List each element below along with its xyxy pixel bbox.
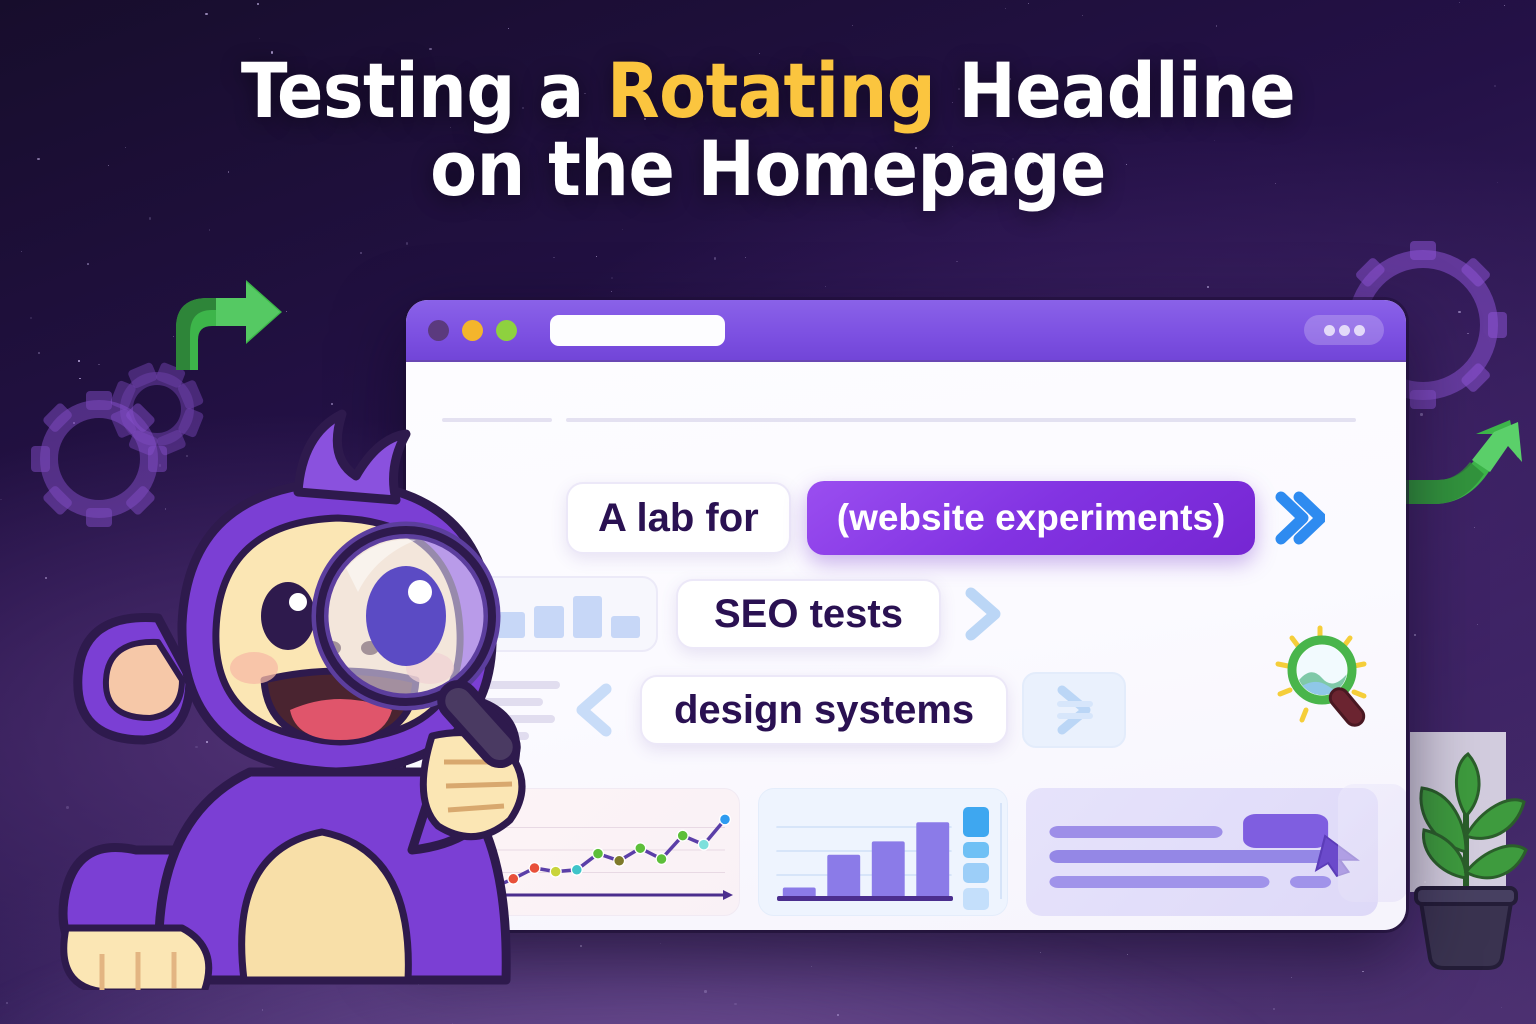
widget-tail-placeholder xyxy=(1338,784,1406,902)
menu-dot-icon xyxy=(1339,325,1350,336)
poster-canvas: Testing a Rotating Headline on the Homep… xyxy=(0,0,1536,1024)
browser-chrome xyxy=(406,300,1406,362)
menu-dot-icon xyxy=(1354,325,1365,336)
bar-chart-widget[interactable] xyxy=(758,788,1008,916)
headline-part-after: Headline xyxy=(935,46,1295,135)
chevron-right-icon xyxy=(1046,684,1102,736)
rotating-word-pill[interactable]: design systems xyxy=(640,675,1008,745)
headline-line-2: on the Homepage xyxy=(430,124,1106,213)
search-icon xyxy=(1272,624,1392,736)
page-title: Testing a Rotating Headline on the Homep… xyxy=(0,52,1536,209)
traffic-light-close[interactable] xyxy=(428,320,449,341)
growth-arrow-icon xyxy=(1398,418,1526,540)
card-skeleton xyxy=(1026,788,1378,916)
headline-line-1: Testing a Rotating Headline xyxy=(241,46,1295,135)
plant-icon xyxy=(1402,732,1530,972)
headline-part-before: Testing a xyxy=(241,46,607,135)
traffic-light-minimize[interactable] xyxy=(462,320,483,341)
chevron-right-button[interactable] xyxy=(1022,672,1126,748)
rotating-word-pill[interactable]: SEO tests xyxy=(676,579,941,649)
headline-accent-word: Rotating xyxy=(607,46,935,135)
curved-arrow-icon xyxy=(168,276,286,372)
url-bar[interactable] xyxy=(550,315,725,346)
menu-dot-icon xyxy=(1324,325,1335,336)
skeleton-line xyxy=(566,418,1356,422)
chevron-right-icon[interactable] xyxy=(1271,489,1325,547)
content-card-widget[interactable] xyxy=(1026,788,1378,916)
monkey-mascot xyxy=(40,380,640,990)
traffic-light-maximize[interactable] xyxy=(496,320,517,341)
chevron-right-icon[interactable] xyxy=(957,585,1009,643)
rotating-word-pill-active[interactable]: (website experiments) xyxy=(807,481,1256,555)
browser-menu-button[interactable] xyxy=(1304,315,1384,345)
bar-chart xyxy=(759,789,1008,916)
